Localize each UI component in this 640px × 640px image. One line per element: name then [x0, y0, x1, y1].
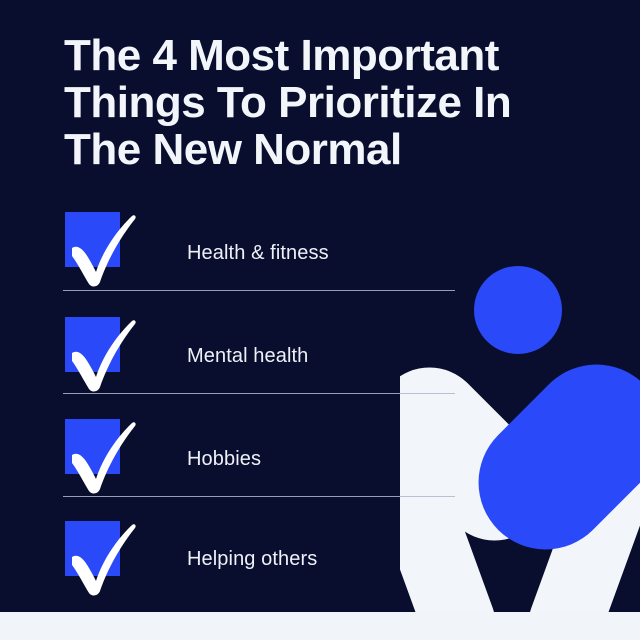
row-divider — [63, 393, 455, 394]
checkbox-4[interactable] — [65, 521, 120, 576]
list-item-label: Mental health — [187, 345, 308, 368]
checkbox-2[interactable] — [65, 317, 120, 372]
list-item[interactable]: Helping others — [0, 521, 640, 624]
checkbox-1[interactable] — [65, 212, 120, 267]
row-divider — [63, 496, 455, 497]
list-item[interactable]: Health & fitness — [0, 212, 640, 315]
list-item[interactable]: Hobbies — [0, 419, 640, 522]
row-divider — [63, 290, 455, 291]
checkbox-3[interactable] — [65, 419, 120, 474]
list-item-label: Hobbies — [187, 448, 261, 471]
bottom-strip — [0, 612, 640, 640]
poster-canvas: The 4 Most Important Things To Prioritiz… — [0, 0, 640, 640]
list-item-label: Helping others — [187, 548, 317, 571]
list-item-label: Health & fitness — [187, 242, 329, 265]
checklist: Health & fitness Mental health Hobbies — [0, 0, 640, 640]
list-item[interactable]: Mental health — [0, 317, 640, 420]
